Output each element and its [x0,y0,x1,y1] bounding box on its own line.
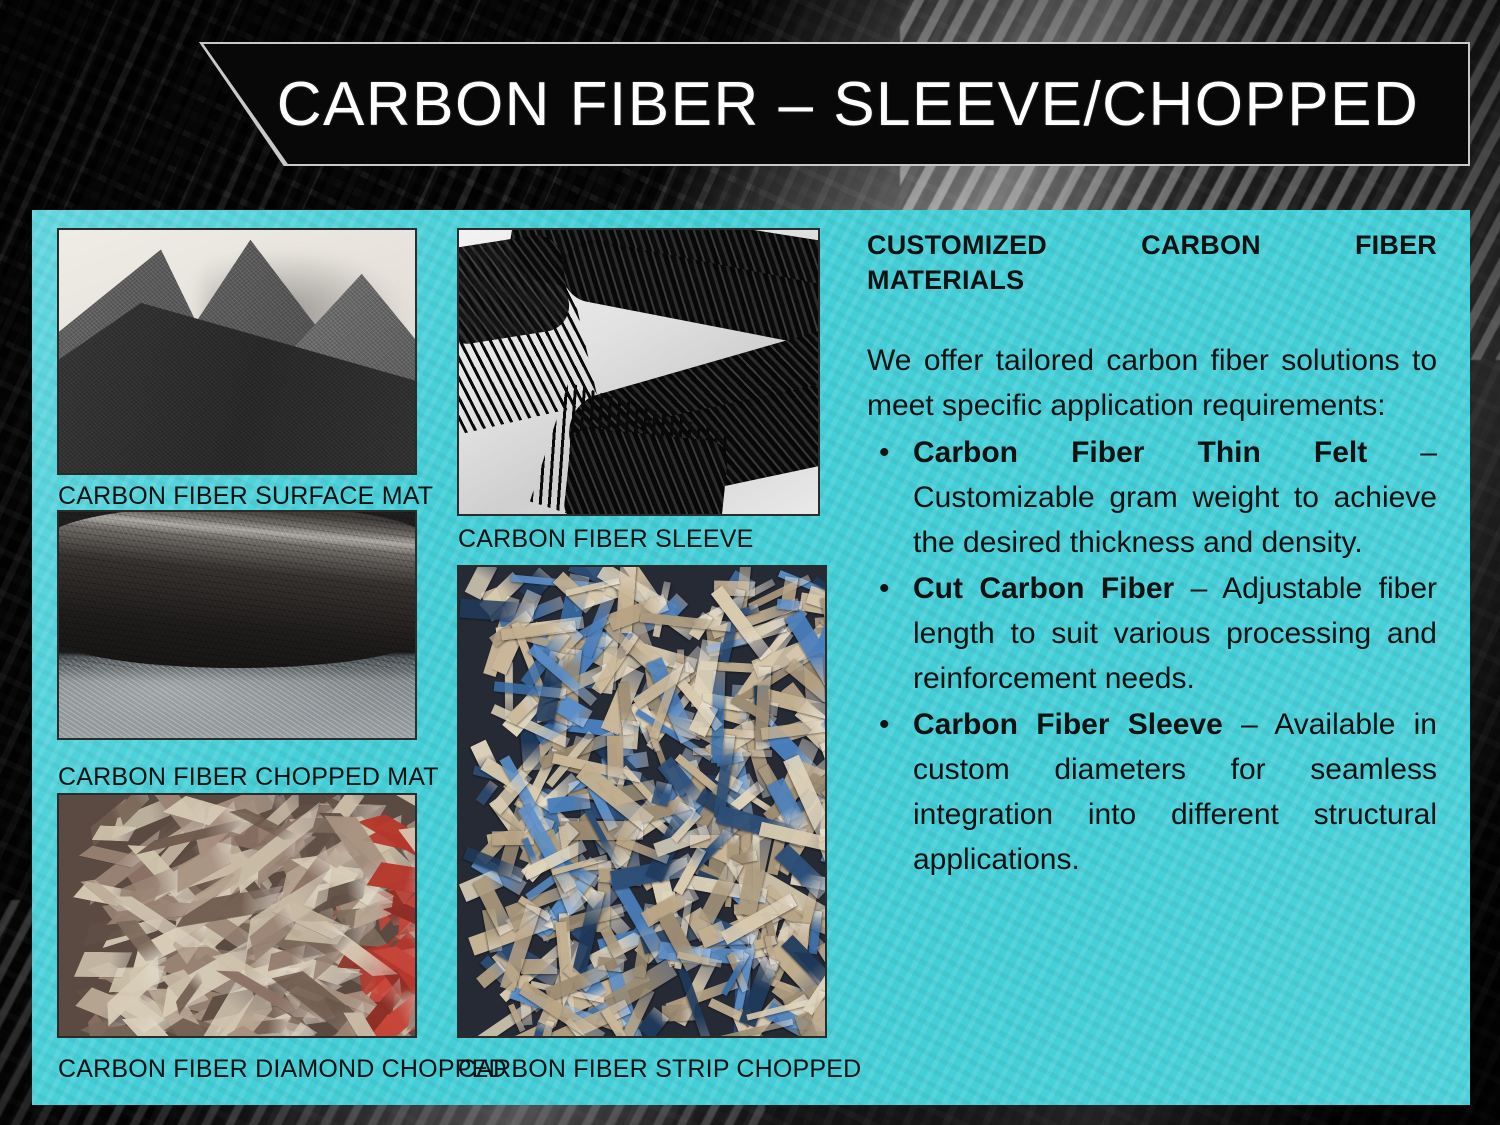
bullet-item-2: •Carbon Fiber Sleeve – Available in cust… [867,702,1437,882]
heading-line-1: CUSTOMIZED CARBON FIBER [867,228,1437,263]
photo-carbon-fiber-diamond-chopped [57,793,417,1038]
photo-carbon-fiber-strip-chopped [457,565,827,1038]
bullet-term: Carbon Fiber Thin Felt [913,436,1367,469]
caption-carbon-fiber-chopped-mat: CARBON FIBER CHOPPED MAT [58,763,439,792]
caption-carbon-fiber-diamond-chopped: CARBON FIBER DIAMOND CHOPPED [58,1055,507,1084]
strip-chip [606,735,623,784]
chopped-mat-fibre-texture [57,510,417,668]
heading-customized-carbon-fiber-materials: CUSTOMIZED CARBON FIBER MATERIALS [867,228,1437,298]
title-banner: CARBON FIBER – SLEEVE/CHOPPED [186,42,1470,166]
intro-paragraph: We offer tailored carbon fiber solutions… [867,338,1437,428]
caption-carbon-fiber-surface-mat: CARBON FIBER SURFACE MAT [58,482,433,511]
sleeve-braid-bottom-end [562,426,729,516]
photo-carbon-fiber-surface-mat [57,228,417,475]
strip-chips [459,567,825,1036]
bullet-marker-icon: • [879,430,890,475]
concrete-floor [59,657,415,738]
slide-canvas: CARBON FIBER – SLEEVE/CHOPPED CARBON FIB… [0,0,1500,1125]
bullet-item-1: •Cut Carbon Fiber – Adjustable fiber len… [867,566,1437,701]
heading-line-2: MATERIALS [867,263,1437,298]
content-panel: CARBON FIBER SURFACE MAT CARBON FIBER CH… [32,210,1470,1105]
page-title: CARBON FIBER – SLEEVE/CHOPPED [186,42,1470,166]
photo-carbon-fiber-chopped-mat [57,510,417,740]
caption-carbon-fiber-strip-chopped: CARBON FIBER STRIP CHOPPED [458,1055,861,1084]
text-column: CUSTOMIZED CARBON FIBER MATERIALS We off… [867,228,1437,882]
caption-carbon-fiber-sleeve: CARBON FIBER SLEEVE [458,525,754,554]
strip-chip [521,959,557,974]
bullet-item-0: •Carbon Fiber Thin Felt – Customizable g… [867,430,1437,565]
bullet-marker-icon: • [879,702,890,747]
photo-carbon-fiber-sleeve [457,228,820,516]
bullet-term: Carbon Fiber Sleeve [913,708,1223,741]
bullet-term: Cut Carbon Fiber [913,572,1174,605]
bullet-marker-icon: • [879,566,890,611]
diamond-chips [59,795,415,1036]
material-bullet-list: •Carbon Fiber Thin Felt – Customizable g… [867,430,1437,882]
chopped-mat-roll [57,510,417,668]
